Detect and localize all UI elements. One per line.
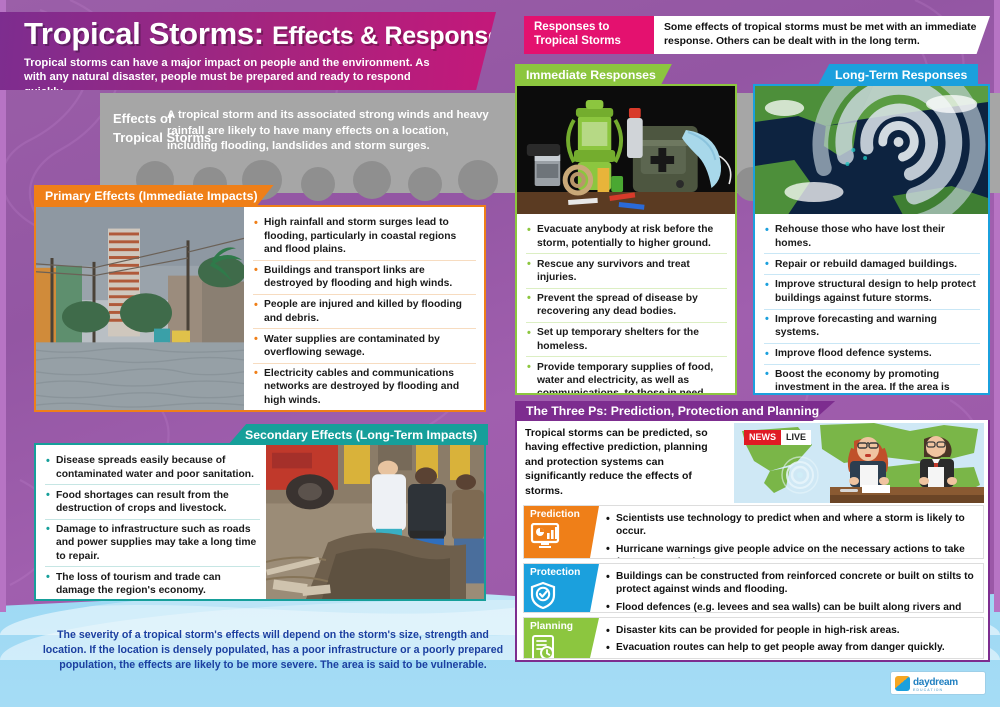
flooded-street-photo-art [36,207,244,410]
tab-three-ps[interactable]: The Three Ps: Prediction, Protection and… [515,401,835,421]
list-item: Prevent the spread of disease by recover… [526,288,727,322]
page-title: Tropical Storms: Effects & Responses [24,18,496,51]
shield-check-icon-art [530,581,556,609]
left-edge-accent [0,0,6,612]
list-item: Set up temporary shelters for the homele… [526,322,727,356]
list-item: Buildings can be constructed from reinfo… [605,568,975,599]
list-item: Rescue any survivors and treat injuries. [526,253,727,287]
protection-tag: Protection [524,564,599,612]
responses-header-pill: Responses to Tropical Storms [524,16,654,54]
lighter [611,176,623,192]
row-protection: Protection Buildings can be constructed … [523,563,984,613]
list-item: People are injured and killed by floodin… [253,294,476,328]
responses-header-text: Some effects of tropical storms must be … [654,16,990,54]
emergency-kit-photo-art [517,86,735,214]
monitor-chart-icon [530,523,599,554]
news-studio-illustration: NEWS LIVE [734,423,984,503]
primary-effects-list: High rainfall and storm surges lead to f… [244,207,484,410]
hurricane-satellite-photo [755,86,988,214]
list-item: The loss of tourism and trade can damage… [45,566,260,600]
list-item: Damage to infrastructure such as roads a… [45,519,260,567]
mudslide-cleanup-photo-art [266,445,484,599]
tab-primary-effects[interactable]: Primary Effects (Immediate Impacts) [34,185,274,206]
list-item: Improve structural design to help protec… [764,274,980,308]
list-item: Hurricane warnings give people advice on… [605,541,975,560]
logo-text: daydream EDUCATION [913,673,958,693]
clipboard-clock-icon [530,635,599,659]
prediction-label: Prediction [530,509,599,520]
tab-immediate-responses[interactable]: Immediate Responses [515,64,672,85]
shield-check-icon [530,581,599,613]
list-item: Evacuation routes can help to get people… [605,639,975,656]
panel-secondary-effects: Disease spreads easily because of contam… [34,443,486,601]
list-item: Electricity cables and communications ne… [253,363,476,411]
protection-label: Protection [530,567,599,578]
page-title-subtitle: Effects & Responses [272,22,515,50]
secondary-effects-list: Disease spreads easily because of contam… [36,445,266,599]
right-edge-accent [994,0,1000,612]
list-item: High rainfall and storm surges lead to f… [253,213,476,260]
protection-list: Buildings can be constructed from reinfo… [599,564,983,612]
list-item: Boost the economy by promoting investmen… [764,364,980,395]
list-item: Improve flood defence systems. [764,343,980,364]
logo-mark-icon [895,676,910,691]
daydream-education-logo[interactable]: daydream EDUCATION [890,671,986,695]
clipboard-clock-icon-art [530,635,556,659]
live-badge-label: LIVE [781,430,811,445]
row-planning: Planning Disaster kits can be provided f… [523,617,984,659]
list-item: Disaster kits can be provided for people… [605,622,975,639]
footer-summary-text: The severity of a tropical storm's effec… [34,628,512,673]
tab-long-term-responses[interactable]: Long-Term Responses [818,64,978,85]
prediction-list: Scientists use technology to predict whe… [599,506,983,558]
list-item: Flood defences (e.g. levees and sea wall… [605,599,975,614]
hurricane-satellite-photo-art [755,86,988,214]
list-item: Improve forecasting and warning systems. [764,309,980,343]
emergency-kit-photo [517,86,735,214]
title-banner: Tropical Storms: Effects & Responses Tro… [0,12,496,90]
row-prediction: Prediction Scientists use technology to … [523,505,984,559]
three-ps-intro: Tropical storms can be predicted, so hav… [525,426,720,498]
logo-tagline: EDUCATION [913,689,958,693]
immediate-responses-list: Evacuate anybody at risk before the stor… [517,214,735,395]
panel-primary-effects: High rainfall and storm surges lead to f… [34,205,486,412]
prediction-tag: Prediction [524,506,599,558]
page-title-main: Tropical Storms: [24,16,264,51]
list-item: Provide temporary supplies of food, wate… [526,356,727,395]
effects-header-text: A tropical storm and its associated stro… [167,108,497,155]
responses-header-line2: Tropical Storms [534,35,654,49]
list-item: Evacuate anybody at risk before the stor… [526,220,727,253]
news-live-badge: NEWS LIVE [744,430,811,445]
list-item: Repair or rebuild damaged buildings. [764,253,980,274]
panel-long-term-responses: Rehouse those who have lost their homes.… [753,84,990,395]
monitor-chart-icon-art [530,523,560,549]
responses-header-line1: Responses to [534,21,654,35]
list-item: Food shortages can result from the destr… [253,410,476,412]
list-item: Disease spreads easily because of contam… [45,451,260,484]
list-item: Scientists use technology to predict whe… [605,510,975,541]
list-item: Buildings and transport links are destro… [253,260,476,294]
water-bottle [627,108,643,158]
planning-label: Planning [530,621,599,632]
list-item: Food shortages can result from the destr… [45,484,260,518]
list-item: Rehouse those who have lost their homes. [764,220,980,253]
long-term-responses-list: Rehouse those who have lost their homes.… [755,214,988,395]
planning-list: Disaster kits can be provided for people… [599,618,983,658]
list-item: Water supplies are contaminated by overf… [253,328,476,362]
flashlight [527,144,560,156]
tab-secondary-effects[interactable]: Secondary Effects (Long-Term Impacts) [228,424,488,445]
planning-tag: Planning [524,618,599,658]
flooded-street-photo [36,207,244,410]
panel-three-ps: Tropical storms can be predicted, so hav… [515,420,990,662]
logo-name: daydream [913,677,958,688]
panel-immediate-responses: Evacuate anybody at risk before the stor… [515,84,737,395]
canned-food [535,154,561,186]
news-badge-label: NEWS [744,430,781,445]
mudslide-cleanup-photo [266,445,484,599]
candle [598,168,610,192]
